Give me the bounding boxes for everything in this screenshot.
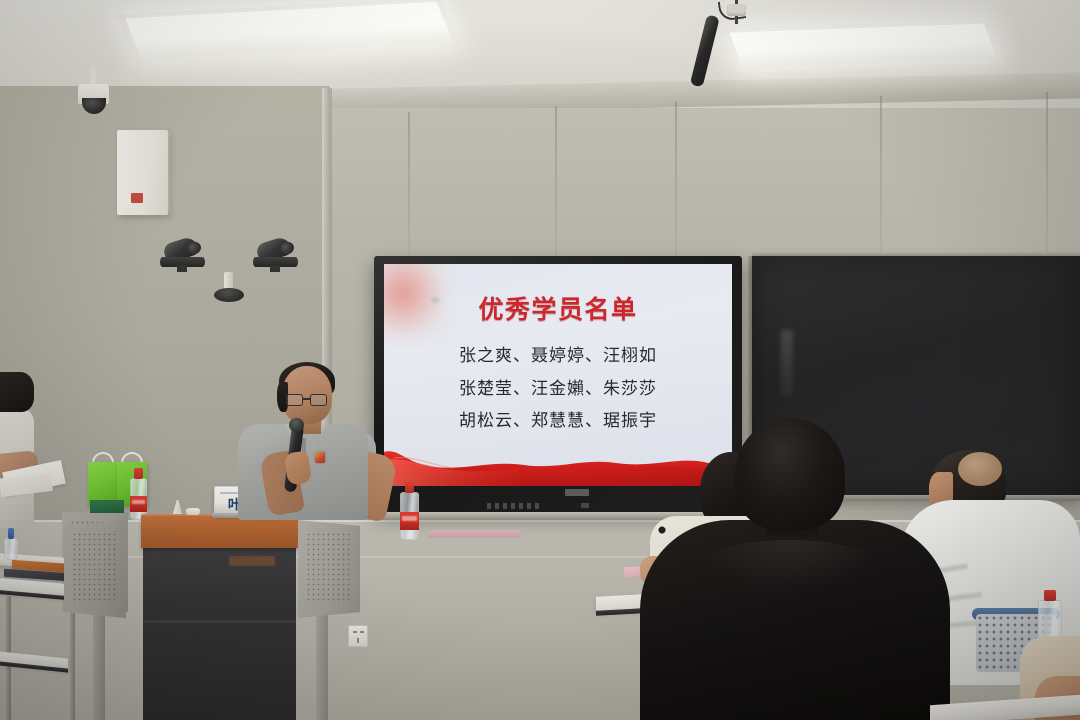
wall-seam <box>1046 92 1048 256</box>
gift-box-dark-green <box>90 500 124 513</box>
bottle-cap <box>8 528 15 539</box>
wall-seam <box>408 112 410 258</box>
bottle-cap <box>134 468 142 479</box>
slide-red-ribbon-decoration <box>384 446 732 486</box>
party-emblem-pin-icon <box>315 452 325 463</box>
podium-desktop <box>141 516 298 548</box>
shelf-pink-item <box>428 530 521 538</box>
podium-front-panel <box>143 547 296 720</box>
person-black-hair <box>735 418 845 530</box>
ptz-camera-left-icon <box>160 240 204 270</box>
slide-name-line: 张之爽、聂婷婷、汪栩如 <box>384 340 732 373</box>
podium-leg <box>93 612 105 720</box>
presentation-slide[interactable]: 优秀学员名单 张之爽、聂婷婷、汪栩如 张楚莹、汪金嬾、朱莎莎 胡松云、郑慧慧、琚… <box>384 264 732 486</box>
wall-microphone-icon <box>214 288 244 302</box>
water-bottle-podium <box>130 468 147 520</box>
water-bottle-left-desk <box>4 528 18 560</box>
podium-desk-item-small <box>186 508 200 515</box>
display-brand-logo <box>565 489 589 496</box>
slide-name-line: 张楚莹、汪金嬾、朱莎莎 <box>384 373 732 406</box>
bottle-cap <box>1044 590 1056 601</box>
bottle-label <box>400 512 419 530</box>
slide-title: 优秀学员名单 <box>384 290 732 326</box>
glasses-icon <box>286 394 328 406</box>
display-ir-receiver-icon <box>581 503 589 508</box>
podium-perforation-left <box>72 532 116 604</box>
presenter-hand <box>284 450 312 485</box>
display-control-buttons[interactable] <box>487 503 543 509</box>
wall-power-outlet[interactable] <box>348 625 368 647</box>
wall-seam <box>555 106 557 258</box>
bottle-cap <box>405 482 414 493</box>
wall-speaker-logo <box>131 193 143 203</box>
person-left-head <box>0 372 34 412</box>
slide-name-line: 胡松云、郑慧慧、琚振宇 <box>384 405 732 438</box>
shoulder-highlight <box>700 540 880 590</box>
classroom-photo-scene: 优秀学员名单 张之爽、聂婷婷、汪栩如 张楚莹、汪金嬾、朱莎莎 胡松云、郑慧慧、琚… <box>0 0 1080 720</box>
wall-seam <box>880 96 882 256</box>
ptz-camera-right-icon <box>253 240 297 270</box>
man-white-shirt-scalp <box>958 452 1002 486</box>
chalk-smudge <box>781 330 793 396</box>
podium-front-seam <box>143 620 296 623</box>
desk-leg <box>70 598 75 720</box>
bottle-label <box>130 496 147 512</box>
water-bottle-center <box>400 482 419 540</box>
podium-brand-label <box>229 556 275 566</box>
microphone-head <box>289 418 304 432</box>
boom-mic-clip <box>727 4 746 16</box>
podium-perforation-right <box>306 532 350 604</box>
slide-name-list: 张之爽、聂婷婷、汪栩如 张楚莹、汪金嬾、朱莎莎 胡松云、郑慧慧、琚振宇 <box>384 340 732 438</box>
wall-seam <box>675 102 677 258</box>
podium-leg <box>316 612 328 720</box>
